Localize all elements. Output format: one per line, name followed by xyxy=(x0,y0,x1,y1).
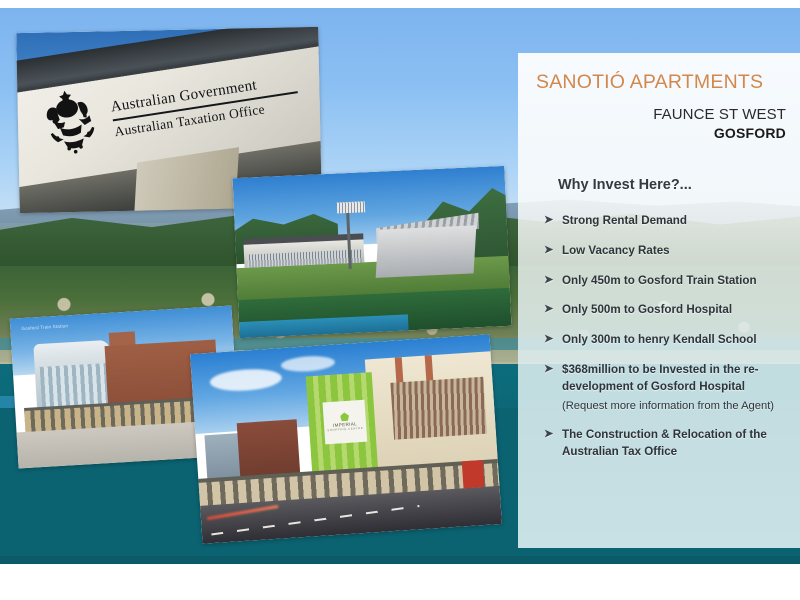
list-item-label: Strong Rental Demand xyxy=(562,213,790,230)
stadium-main-stand xyxy=(376,225,477,278)
list-item-note: (Request more information from the Agent… xyxy=(562,398,790,414)
list-item-label: The Construction & Relocation of the Aus… xyxy=(562,427,790,461)
chevron-bullet-icon: ➤ xyxy=(544,362,562,378)
chevron-bullet-icon: ➤ xyxy=(544,273,562,289)
section-heading: Why Invest Here?... xyxy=(558,177,790,193)
list-item: ➤ Strong Rental Demand xyxy=(544,213,790,230)
slide-top-margin xyxy=(0,0,800,8)
list-item: ➤ Only 500m to Gosford Hospital xyxy=(544,302,790,319)
page-title: SANOTIÓ APARTMENTS xyxy=(536,71,790,94)
list-item: ➤ Only 450m to Gosford Train Station xyxy=(544,273,790,290)
information-panel: SANOTIÓ APARTMENTS FAUNCE ST WEST GOSFOR… xyxy=(518,53,800,548)
photo-gosford-stadium xyxy=(233,166,512,338)
slide-canvas: Australian Government Australian Taxatio… xyxy=(0,0,800,600)
imperial-red-sign xyxy=(462,460,485,488)
slide-bottom-margin xyxy=(0,564,800,600)
suburb-name: GOSFORD xyxy=(536,125,790,141)
list-item-label: Only 450m to Gosford Train Station xyxy=(562,273,790,290)
chevron-bullet-icon: ➤ xyxy=(544,302,562,318)
chevron-bullet-icon: ➤ xyxy=(544,213,562,229)
street-address: FAUNCE ST WEST xyxy=(536,106,790,123)
stadium-floodlight-head xyxy=(337,201,365,213)
list-item: ➤ The Construction & Relocation of the A… xyxy=(544,427,790,461)
chevron-bullet-icon: ➤ xyxy=(544,427,562,443)
chevron-bullet-icon: ➤ xyxy=(544,332,562,348)
imperial-logo-panel: IMPERIAL SHOPPING CENTRE xyxy=(323,400,368,444)
photo-imperial-shopping-centre: IMPERIAL SHOPPING CENTRE xyxy=(190,334,502,543)
benefits-list: ➤ Strong Rental Demand ➤ Low Vacancy Rat… xyxy=(544,213,790,460)
imperial-timber-louvres xyxy=(390,377,487,440)
imperial-logo-icon xyxy=(340,412,350,422)
list-item-text: $368million to be Invested in the re-dev… xyxy=(562,363,759,393)
list-item-label: Low Vacancy Rates xyxy=(562,243,790,260)
list-item-label: Only 300m to henry Kendall School xyxy=(562,332,790,349)
list-item-label: Only 500m to Gosford Hospital xyxy=(562,302,790,319)
list-item-label: $368million to be Invested in the re-dev… xyxy=(562,362,790,414)
list-item: ➤ Low Vacancy Rates xyxy=(544,243,790,260)
chevron-bullet-icon: ➤ xyxy=(544,243,562,259)
list-item: ➤ $368million to be Invested in the re-d… xyxy=(544,362,790,414)
commonwealth-coat-of-arms-icon xyxy=(34,82,108,161)
list-item: ➤ Only 300m to henry Kendall School xyxy=(544,332,790,349)
